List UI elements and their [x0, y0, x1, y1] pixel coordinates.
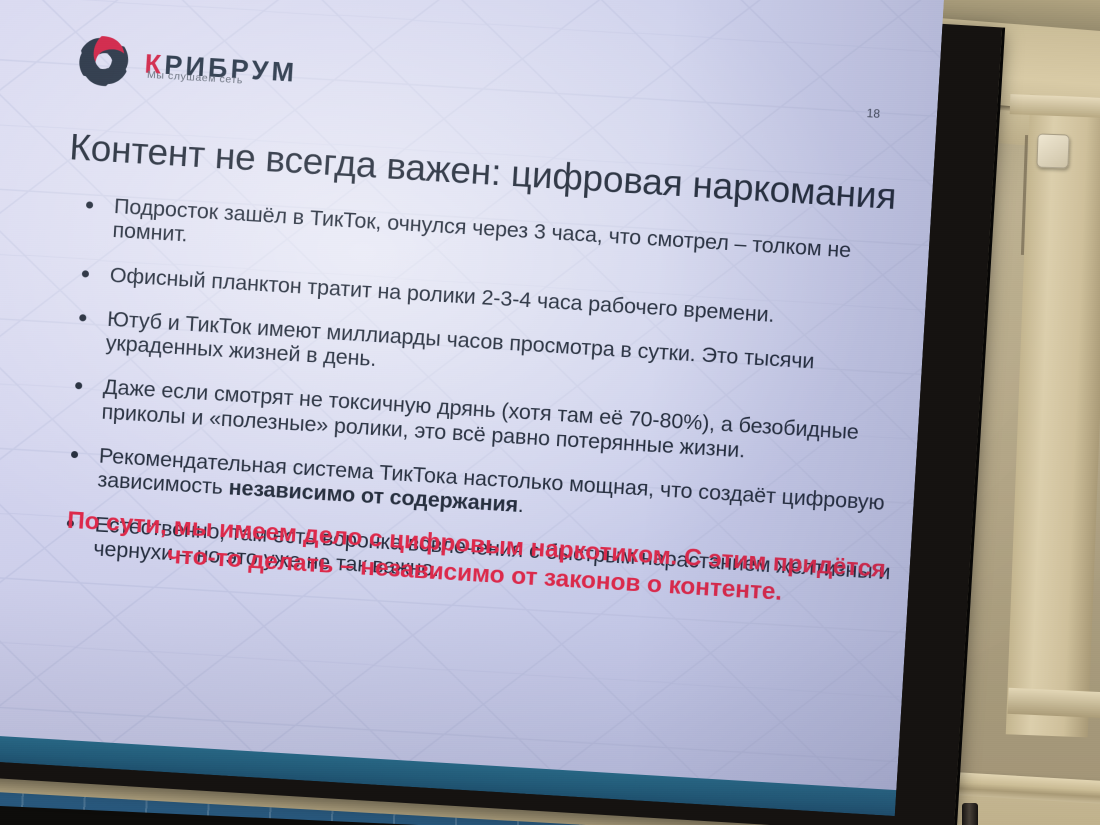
kribrum-logo: КРИБРУМ Мы слушаем сеть: [71, 28, 299, 103]
pilaster-base: [1007, 688, 1100, 718]
projected-slide: КРИБРУМ Мы слушаем сеть 18 Контент не вс…: [0, 0, 946, 816]
logo-wordmark: КРИБРУМ Мы слушаем сеть: [144, 50, 298, 86]
slide-content: КРИБРУМ Мы слушаем сеть 18 Контент не вс…: [0, 0, 940, 790]
slide-canvas: КРИБРУМ Мы слушаем сеть 18 Контент не вс…: [0, 0, 946, 816]
shutter-spiral-icon: [71, 28, 137, 94]
pilaster-cap: [1010, 94, 1100, 118]
bullet-text-tail: .: [517, 493, 524, 517]
screenshot-stage: КРИБРУМ Мы слушаем сеть 18 Контент не вс…: [0, 0, 1100, 825]
slide-number: 18: [866, 106, 880, 121]
wall-sensor-box-icon: [1036, 133, 1069, 168]
floor-pole: [962, 803, 978, 825]
